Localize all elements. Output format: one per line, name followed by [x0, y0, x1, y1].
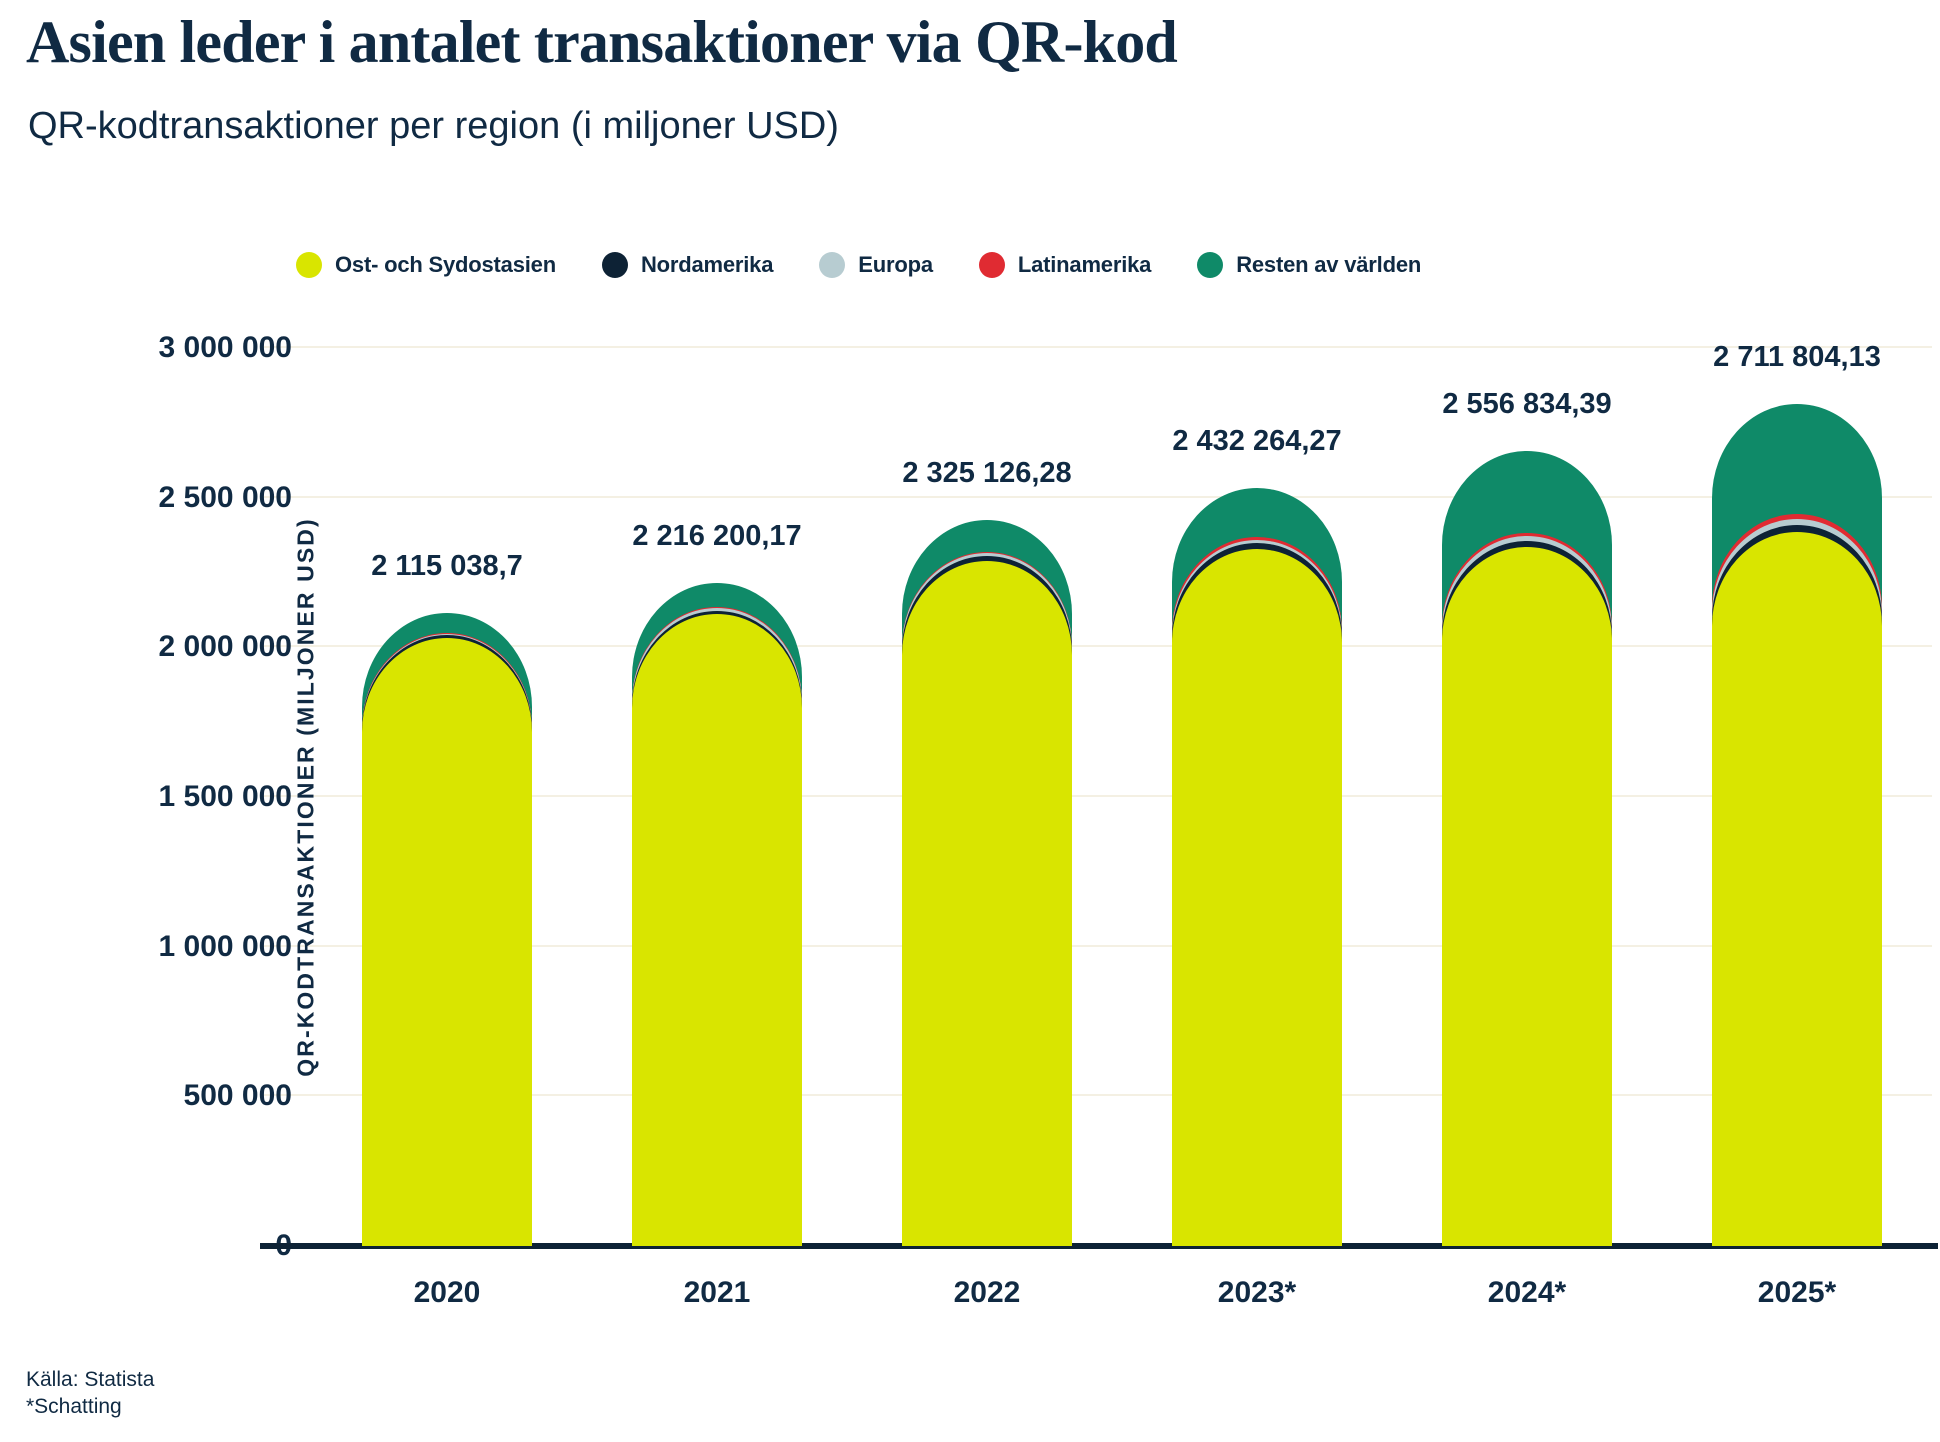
chart-page: Asien leder i antalet transaktioner via … [0, 0, 1940, 1442]
footer: Källa: Statista *Schatting [26, 1367, 154, 1421]
legend-item-label: Latinamerika [1018, 252, 1151, 278]
page-title: Asien leder i antalet transaktioner via … [26, 8, 1177, 77]
bar-group[interactable]: 2 432 264,272023* [1172, 348, 1342, 1246]
y-axis-tick-label: 2 500 000 [0, 481, 292, 515]
legend-swatch-icon [819, 252, 845, 278]
legend-item[interactable]: Resten av världen [1197, 252, 1421, 278]
x-axis-tick-label: 2020 [414, 1276, 481, 1310]
x-axis-tick-label: 2025* [1758, 1276, 1836, 1310]
estimate-note: *Schatting [26, 1394, 154, 1421]
legend-item-label: Resten av världen [1236, 252, 1421, 278]
bar-segment[interactable] [362, 638, 532, 1246]
legend-item[interactable]: Latinamerika [979, 252, 1151, 278]
bar-segment[interactable] [1172, 549, 1342, 1246]
bar-value-label: 2 115 038,7 [371, 550, 523, 583]
legend-item[interactable]: Europa [819, 252, 933, 278]
bar-group[interactable]: 2 216 200,172021 [632, 348, 802, 1246]
legend-item[interactable]: Ost- och Sydostasien [296, 252, 556, 278]
legend-item-label: Europa [858, 252, 933, 278]
chart-legend: Ost- och SydostasienNordamerikaEuropaLat… [296, 248, 1421, 282]
legend-swatch-icon [602, 252, 628, 278]
legend-swatch-icon [296, 252, 322, 278]
y-axis-tick-label: 0 [0, 1229, 292, 1263]
page-subtitle: QR-kodtransaktioner per region (i miljon… [28, 105, 839, 148]
bar-group[interactable]: 2 556 834,392024* [1442, 348, 1612, 1246]
legend-swatch-icon [979, 252, 1005, 278]
x-axis-tick-label: 2022 [954, 1276, 1021, 1310]
plot-area: 0500 0001 000 0001 500 0002 000 0002 500… [312, 348, 1932, 1246]
bar-segment[interactable] [1712, 532, 1882, 1246]
legend-item-label: Nordamerika [641, 252, 773, 278]
bar-value-label: 2 432 264,27 [1172, 425, 1341, 458]
bar-segment[interactable] [632, 614, 802, 1246]
bar-segment[interactable] [902, 561, 1072, 1246]
legend-item[interactable]: Nordamerika [602, 252, 773, 278]
bar-value-label: 2 325 126,28 [902, 457, 1071, 490]
source-text: Källa: Statista [26, 1367, 154, 1394]
x-axis-tick-label: 2021 [684, 1276, 751, 1310]
legend-item-label: Ost- och Sydostasien [335, 252, 556, 278]
y-axis-tick-label: 3 000 000 [0, 331, 292, 365]
bar-segment[interactable] [1442, 547, 1612, 1246]
y-axis-tick-label: 500 000 [0, 1079, 292, 1113]
bar-value-label: 2 711 804,13 [1713, 341, 1881, 374]
y-axis-tick-label: 1 000 000 [0, 930, 292, 964]
bar-value-label: 2 216 200,17 [632, 520, 801, 553]
x-axis-tick-label: 2023* [1218, 1276, 1296, 1310]
x-axis-tick-label: 2024* [1488, 1276, 1566, 1310]
bar-series-container: 2 115 038,720202 216 200,1720212 325 126… [312, 348, 1932, 1246]
legend-swatch-icon [1197, 252, 1223, 278]
bar-value-label: 2 556 834,39 [1442, 388, 1611, 421]
bar-group[interactable]: 2 325 126,282022 [902, 348, 1072, 1246]
bar-group[interactable]: 2 711 804,132025* [1712, 348, 1882, 1246]
bar-group[interactable]: 2 115 038,72020 [362, 348, 532, 1246]
y-axis-tick-label: 2 000 000 [0, 630, 292, 664]
y-axis-tick-label: 1 500 000 [0, 780, 292, 814]
